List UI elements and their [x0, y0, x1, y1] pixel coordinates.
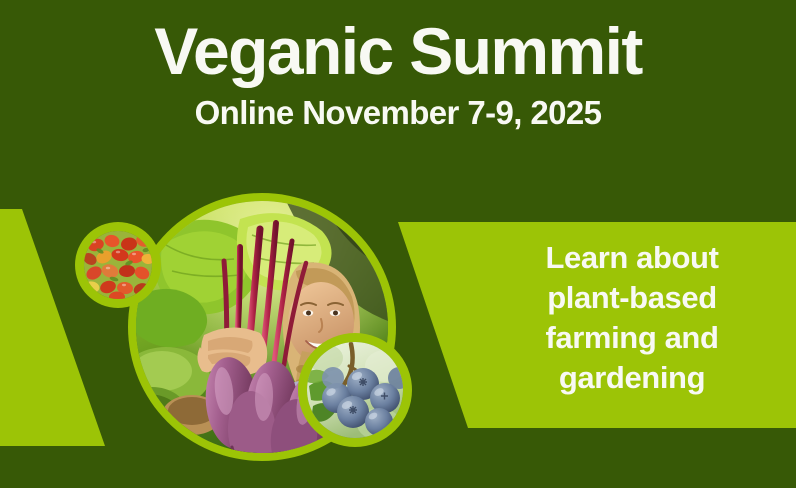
- heading-block: Veganic Summit Online November 7-9, 2025: [0, 14, 796, 132]
- promo-line: Learn about: [468, 238, 796, 278]
- promo-line: gardening: [468, 358, 796, 398]
- blueberry-photo: [307, 342, 403, 438]
- page-title: Veganic Summit: [0, 14, 796, 88]
- promo-text-block: Learn about plant-based farming and gard…: [468, 238, 796, 398]
- promo-line: plant-based: [468, 278, 796, 318]
- tomato-photo: [84, 231, 152, 299]
- event-dates: Online November 7-9, 2025: [0, 94, 796, 132]
- promo-line: farming and: [468, 318, 796, 358]
- veganic-summit-banner: Veganic Summit Online November 7-9, 2025…: [0, 0, 796, 488]
